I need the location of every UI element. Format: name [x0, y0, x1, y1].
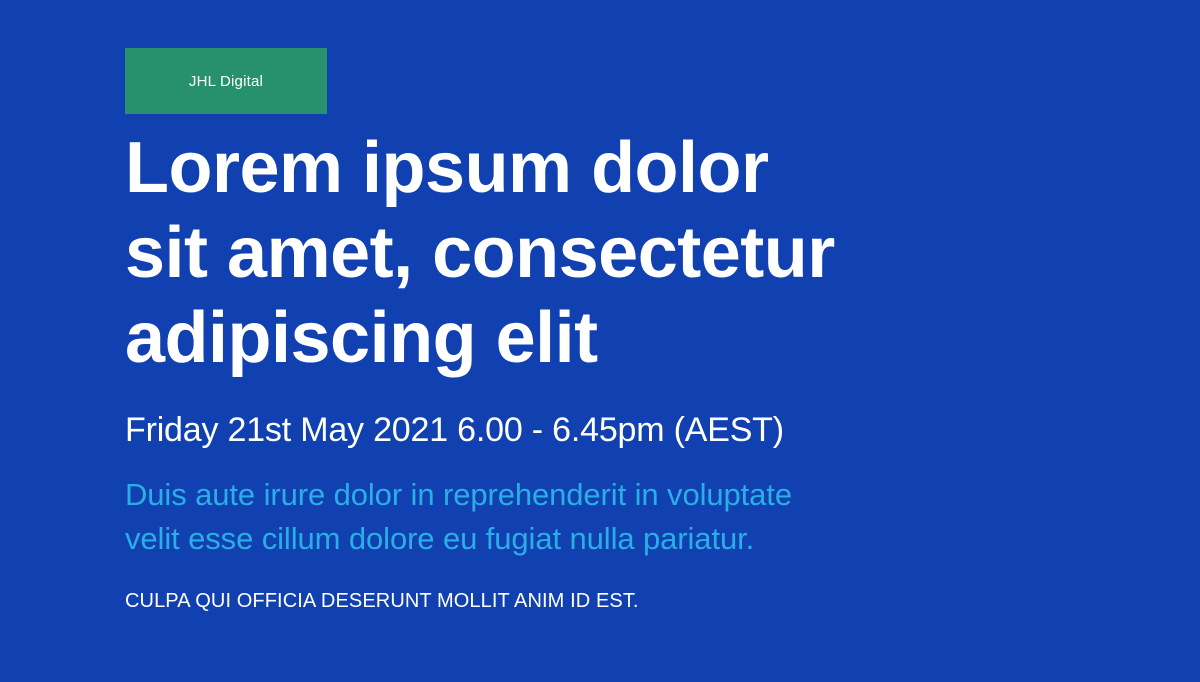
- slide-content: Lorem ipsum dolor sit amet, consectetur …: [125, 126, 1125, 614]
- headline-title: Lorem ipsum dolor sit amet, consectetur …: [125, 126, 955, 381]
- footnote-text: CULPA QUI OFFICIA DESERUNT MOLLIT ANIM I…: [125, 561, 1125, 614]
- event-description: Duis aute irure dolor in reprehenderit i…: [125, 451, 965, 561]
- brand-logo-text: JHL Digital: [189, 74, 263, 89]
- event-datetime: Friday 21st May 2021 6.00 - 6.45pm (AEST…: [125, 381, 1125, 451]
- brand-logo-badge: JHL Digital: [125, 48, 327, 114]
- promo-slide: JHL Digital Lorem ipsum dolor sit amet, …: [0, 0, 1200, 682]
